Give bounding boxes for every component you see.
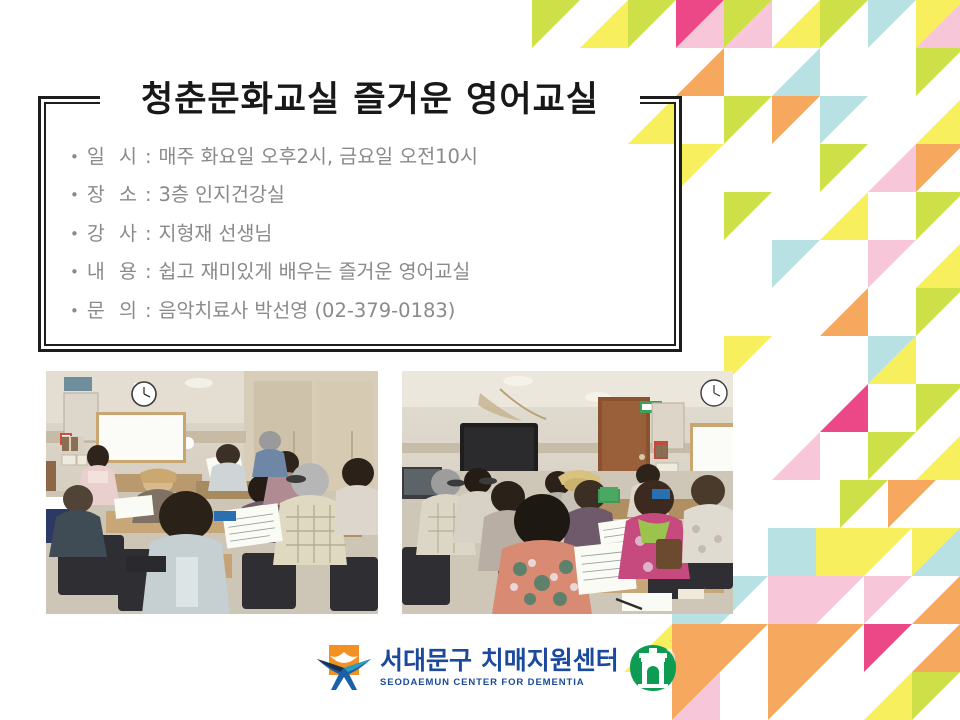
pattern-triangle (768, 528, 864, 624)
info-item: •장 소:3층 인지건강실 (70, 183, 670, 207)
info-item: •내 용:쉽고 재미있게 배우는 즐거운 영어교실 (70, 260, 670, 284)
english-class-photo-right (402, 371, 733, 614)
pattern-triangle (912, 672, 960, 720)
pattern-triangle (676, 144, 724, 192)
pattern-triangle (772, 240, 820, 288)
info-item-value: 지형재 선생님 (159, 222, 273, 246)
organization-logo: 서대문구 치매지원센터 SEODAEMUN CENTER FOR DEMENTI… (316, 641, 677, 695)
info-item-separator: : (145, 299, 152, 323)
poster-slide: 청춘문화교실 즐거운 영어교실 •일 시:매주 화요일 오후2시, 금요일 오전… (0, 0, 960, 720)
pattern-triangle (820, 384, 868, 432)
pattern-triangle (820, 96, 868, 144)
pattern-triangle (912, 528, 960, 576)
pattern-triangle (840, 480, 888, 528)
pattern-triangle (676, 0, 724, 48)
page-title: 청춘문화교실 즐거운 영어교실 (141, 83, 599, 118)
program-info-list: •일 시:매주 화요일 오후2시, 금요일 오전10시•장 소:3층 인지건강실… (70, 145, 670, 337)
info-item-label: 문 의 (87, 299, 141, 323)
pattern-triangle (916, 288, 960, 336)
info-item: •문 의:음악치료사 박선영 (02-379-0183) (70, 299, 670, 323)
pattern-triangle (916, 96, 960, 144)
pattern-triangle (820, 192, 868, 240)
pattern-triangle (864, 672, 912, 720)
info-item: •강 사:지형재 선생님 (70, 222, 670, 246)
info-item-separator: : (145, 222, 152, 246)
info-item-label: 일 시 (87, 145, 141, 169)
pattern-triangle (672, 624, 768, 720)
pattern-triangle (820, 144, 868, 192)
pattern-triangle (868, 0, 916, 48)
pattern-triangle (916, 0, 960, 48)
pattern-triangle (916, 0, 960, 48)
info-item-separator: : (145, 183, 152, 207)
pattern-triangle (916, 384, 960, 432)
info-item-separator: : (145, 145, 152, 169)
pattern-triangle (628, 0, 676, 48)
pattern-triangle (912, 528, 960, 576)
pattern-triangle (864, 576, 912, 624)
pattern-triangle (772, 432, 820, 480)
info-item-label: 장 소 (87, 183, 141, 207)
info-item-value: 쉽고 재미있게 배우는 즐거운 영어교실 (159, 260, 471, 284)
pattern-triangle (916, 432, 960, 480)
info-item-value: 음악치료사 박선영 (02-379-0183) (159, 299, 456, 323)
pattern-triangle (768, 624, 864, 720)
pattern-triangle (724, 192, 772, 240)
bullet-icon: • (70, 145, 79, 169)
pattern-triangle (868, 432, 916, 480)
pattern-triangle (772, 48, 820, 96)
logo-korean-name: 서대문구 치매지원센터 (380, 648, 619, 674)
info-item-label: 내 용 (87, 260, 141, 284)
bullet-icon: • (70, 222, 79, 246)
pattern-triangle (532, 0, 580, 48)
dongnimmun-gate-icon (629, 644, 677, 692)
pattern-triangle (772, 96, 820, 144)
pattern-triangle (724, 96, 772, 144)
pattern-triangle (912, 624, 960, 672)
pattern-triangle (816, 528, 912, 624)
pattern-triangle (868, 336, 916, 384)
info-item: •일 시:매주 화요일 오후2시, 금요일 오전10시 (70, 145, 670, 169)
pattern-triangle (916, 192, 960, 240)
pattern-triangle (916, 144, 960, 192)
pattern-triangle (676, 48, 724, 96)
info-item-label: 강 사 (87, 222, 141, 246)
bullet-icon: • (70, 299, 79, 323)
pattern-triangle (916, 240, 960, 288)
english-class-photo-left (46, 371, 378, 614)
bullet-icon: • (70, 260, 79, 284)
pattern-triangle (724, 0, 772, 48)
pattern-triangle (820, 288, 868, 336)
pattern-triangle (768, 576, 864, 672)
pattern-triangle (868, 144, 916, 192)
info-item-value: 3층 인지건강실 (159, 183, 285, 207)
pattern-triangle (772, 0, 820, 48)
poster-title-container: 청춘문화교실 즐거운 영어교실 (100, 72, 640, 128)
pattern-triangle (820, 0, 868, 48)
pattern-triangle (868, 336, 916, 384)
logo-text: 서대문구 치매지원센터 SEODAEMUN CENTER FOR DEMENTI… (380, 648, 619, 687)
pattern-triangle (868, 240, 916, 288)
pattern-triangle (724, 0, 772, 48)
pattern-triangle (676, 0, 724, 48)
pattern-triangle (912, 576, 960, 624)
pattern-triangle (916, 48, 960, 96)
pattern-triangle (864, 624, 912, 672)
info-item-value: 매주 화요일 오후2시, 금요일 오전10시 (159, 145, 478, 169)
pattern-triangle (580, 0, 628, 48)
pattern-triangle (888, 480, 936, 528)
bullet-icon: • (70, 183, 79, 207)
info-item-separator: : (145, 260, 152, 284)
pattern-triangle (672, 672, 720, 720)
logo-english-name: SEODAEMUN CENTER FOR DEMENTIA (380, 677, 619, 688)
person-star-icon (316, 645, 372, 691)
